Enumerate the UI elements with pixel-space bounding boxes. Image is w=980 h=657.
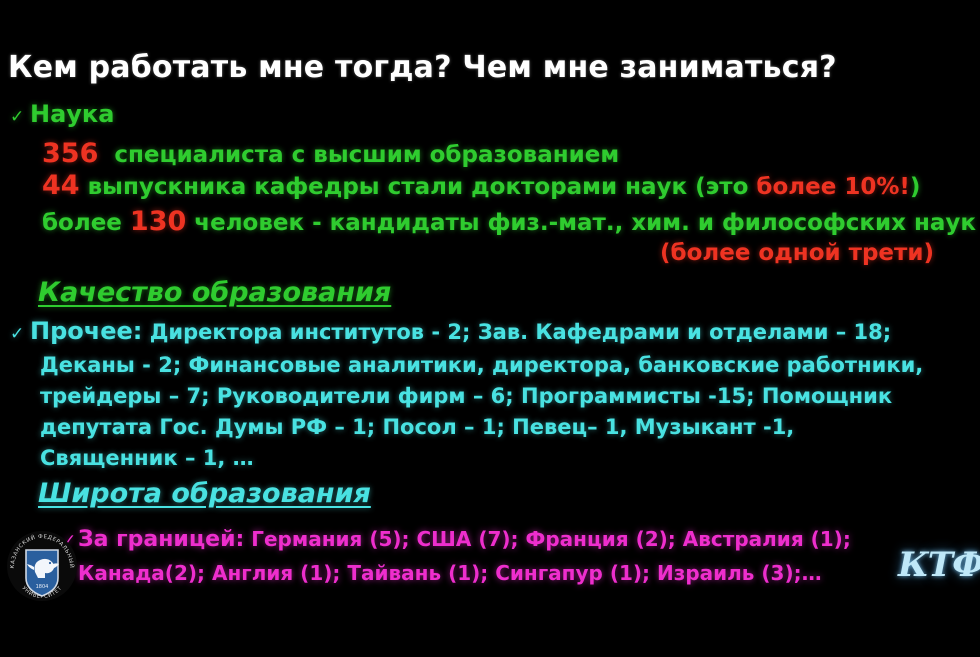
check-icon: ✓ [10,319,30,350]
quality-line-5: Священник – 1, … [10,443,975,474]
check-icon: ✓ [10,107,30,127]
breadth-line-1: ✓За границей: Германия (5); США (7); Фра… [62,523,962,557]
science-count-356: 356 [42,138,98,169]
science-count-130: 130 [130,206,186,237]
quality-line-1: ✓Прочее: Директора институтов - 2; Зав. … [10,316,975,350]
breadth-heading: Широта образования [38,478,371,509]
breadth-line-1-text: Германия (5); США (7); Франция (2); Авст… [244,527,851,551]
science-heading: ✓Наука [10,100,114,128]
science-line-one-third: (более одной трети) [660,240,934,266]
science-line1-text: специалиста с высшим образованием [114,142,619,168]
breadth-abroad-list: ✓За границей: Германия (5); США (7); Фра… [62,523,962,589]
science-heading-label: Наука [30,100,114,128]
breadth-line-2: Канада(2); Англия (1); Тайвань (1); Синг… [62,557,962,589]
science-line2-highlight: более 10%! [756,174,909,200]
science-count-44: 44 [42,170,80,201]
slide-canvas: Кем работать мне тогда? Чем мне занимать… [0,0,980,657]
svg-text:1804: 1804 [36,584,49,590]
science-line-specialists: 356 специалиста с высшим образованием [42,138,619,169]
science-line2-text-a: выпускника кафедры стали докторами наук … [88,174,757,200]
quality-other-list: ✓Прочее: Директора институтов - 2; Зав. … [10,316,975,474]
science-line3-text: человек - кандидаты физ.-мат., хим. и фи… [186,210,976,236]
quality-heading: Качество образования [38,277,391,308]
quality-line-4: депутата Гос. Думы РФ – 1; Посол – 1; Пе… [10,412,975,443]
science-line3-prefix: более [42,210,130,236]
science-line2-text-b: ) [910,174,921,200]
quality-lead-label: Прочее: [30,317,142,345]
slide-title: Кем работать мне тогда? Чем мне занимать… [8,50,968,85]
quality-line-2: Деканы - 2; Финансовые аналитики, директ… [10,350,975,381]
science-line-doctors: 44 выпускника кафедры стали докторами на… [42,170,920,201]
kazan-federal-university-seal: КАЗАНСКИЙ ФЕДЕРАЛЬНЫЙ УНИВЕРСИТЕТ 1804 [4,526,80,606]
quality-line-3: трейдеры – 7; Руководители фирм – 6; Про… [10,381,975,412]
ktf-logo: КТФ [898,545,976,603]
breadth-lead-label: За границей: [78,527,244,552]
science-line-candidates: более 130 человек - кандидаты физ.-мат.,… [42,206,976,237]
quality-line-1-text: Директора институтов - 2; Зав. Кафедрами… [142,320,891,344]
ktf-logo-text: КТФ [898,545,980,585]
